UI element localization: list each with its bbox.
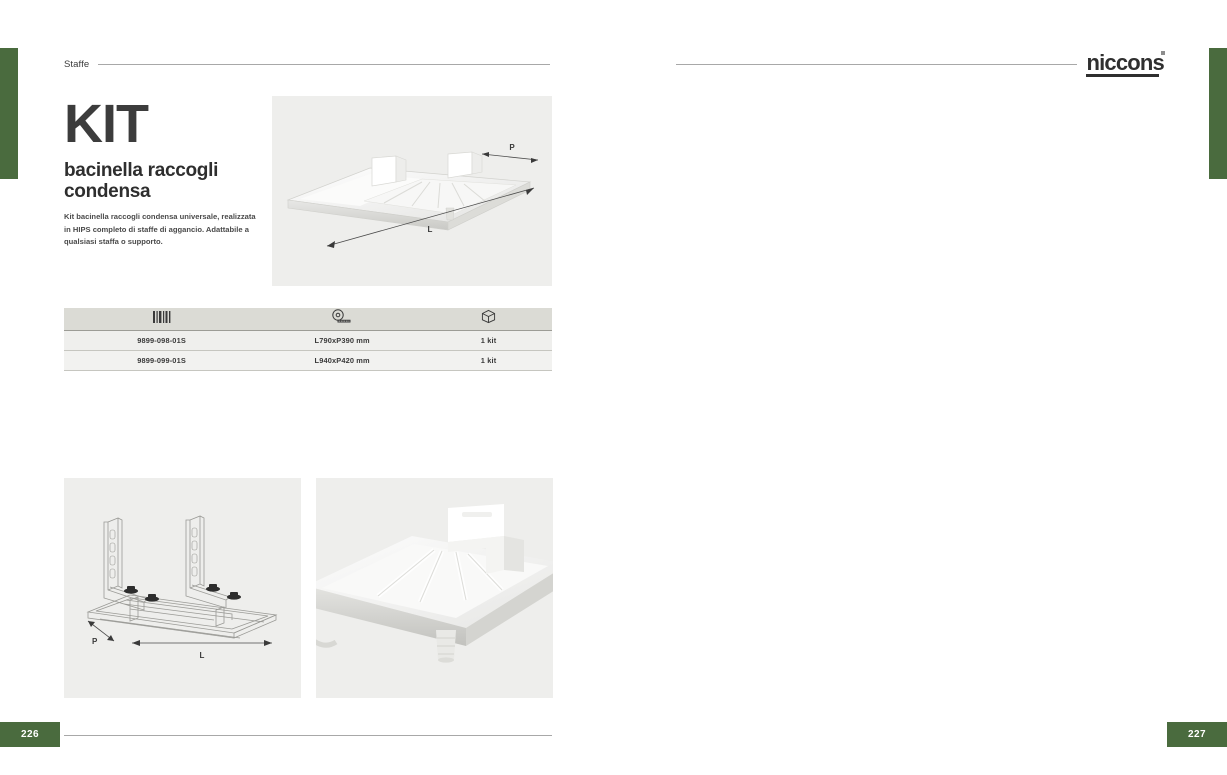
cell-dimensions: L940xP420 mm: [259, 350, 425, 370]
dimension-label-P: P: [92, 637, 98, 646]
left-footer-divider: [64, 735, 552, 736]
page-number-left: 226: [0, 722, 60, 747]
left-figure-detail-photo: [316, 478, 553, 698]
left-title-block: KIT bacinella raccogli condensa Kit baci…: [64, 100, 264, 248]
cell-dimensions: L790xP390 mm: [259, 330, 425, 350]
left-hero-image: L P: [272, 96, 552, 286]
header-kicker: Staffe: [64, 59, 89, 70]
right-page: niccons KIT bacinella raccogli condensa …: [614, 0, 1227, 775]
product-description: Kit bacinella raccogli condensa universa…: [64, 211, 264, 248]
page-number-right: 227: [1167, 722, 1227, 747]
dimension-label-L: L: [200, 651, 205, 660]
barcode-icon: [152, 311, 172, 323]
column-header-code: [64, 308, 259, 330]
page-title: KIT: [64, 100, 264, 150]
column-header-dimensions: [259, 308, 425, 330]
logo-registered-mark: [1161, 51, 1165, 55]
table-row: 9899-099-01S L940xP420 mm 1 kit: [64, 350, 552, 370]
header-divider: [98, 64, 549, 65]
page-subtitle: bacinella raccogli condensa: [64, 160, 264, 203]
header-divider: [676, 64, 1078, 65]
dimension-label-P: P: [509, 143, 515, 152]
left-page: Staffe KIT bacinella raccogli condensa K…: [0, 0, 614, 775]
cell-packaging: 1 kit: [425, 350, 552, 370]
cell-code: 9899-099-01S: [64, 350, 259, 370]
column-header-packaging: [425, 308, 552, 330]
right-page-header: niccons: [676, 56, 1165, 72]
catalogue-spread: Staffe KIT bacinella raccogli condensa K…: [0, 0, 1227, 775]
tape-measure-icon: [331, 309, 353, 323]
table-header-row: [64, 308, 552, 330]
left-page-header: Staffe: [64, 56, 550, 72]
brand-logo-text: niccons: [1086, 50, 1164, 75]
dimension-label-L: L: [428, 225, 433, 234]
brand-logo: niccons: [1086, 52, 1164, 77]
cell-code: 9899-098-01S: [64, 330, 259, 350]
left-figure-technical-drawing: P L: [64, 478, 301, 698]
bracket-assembly-line-drawing: P L: [64, 478, 301, 698]
cell-packaging: 1 kit: [425, 330, 552, 350]
drain-pan-render: L P: [272, 96, 552, 286]
drain-pan-detail-photo: [316, 478, 553, 698]
table-row: 9899-098-01S L790xP390 mm 1 kit: [64, 330, 552, 350]
left-spec-table: 9899-098-01S L790xP390 mm 1 kit 9899-099…: [64, 308, 552, 371]
package-icon: [481, 309, 496, 324]
